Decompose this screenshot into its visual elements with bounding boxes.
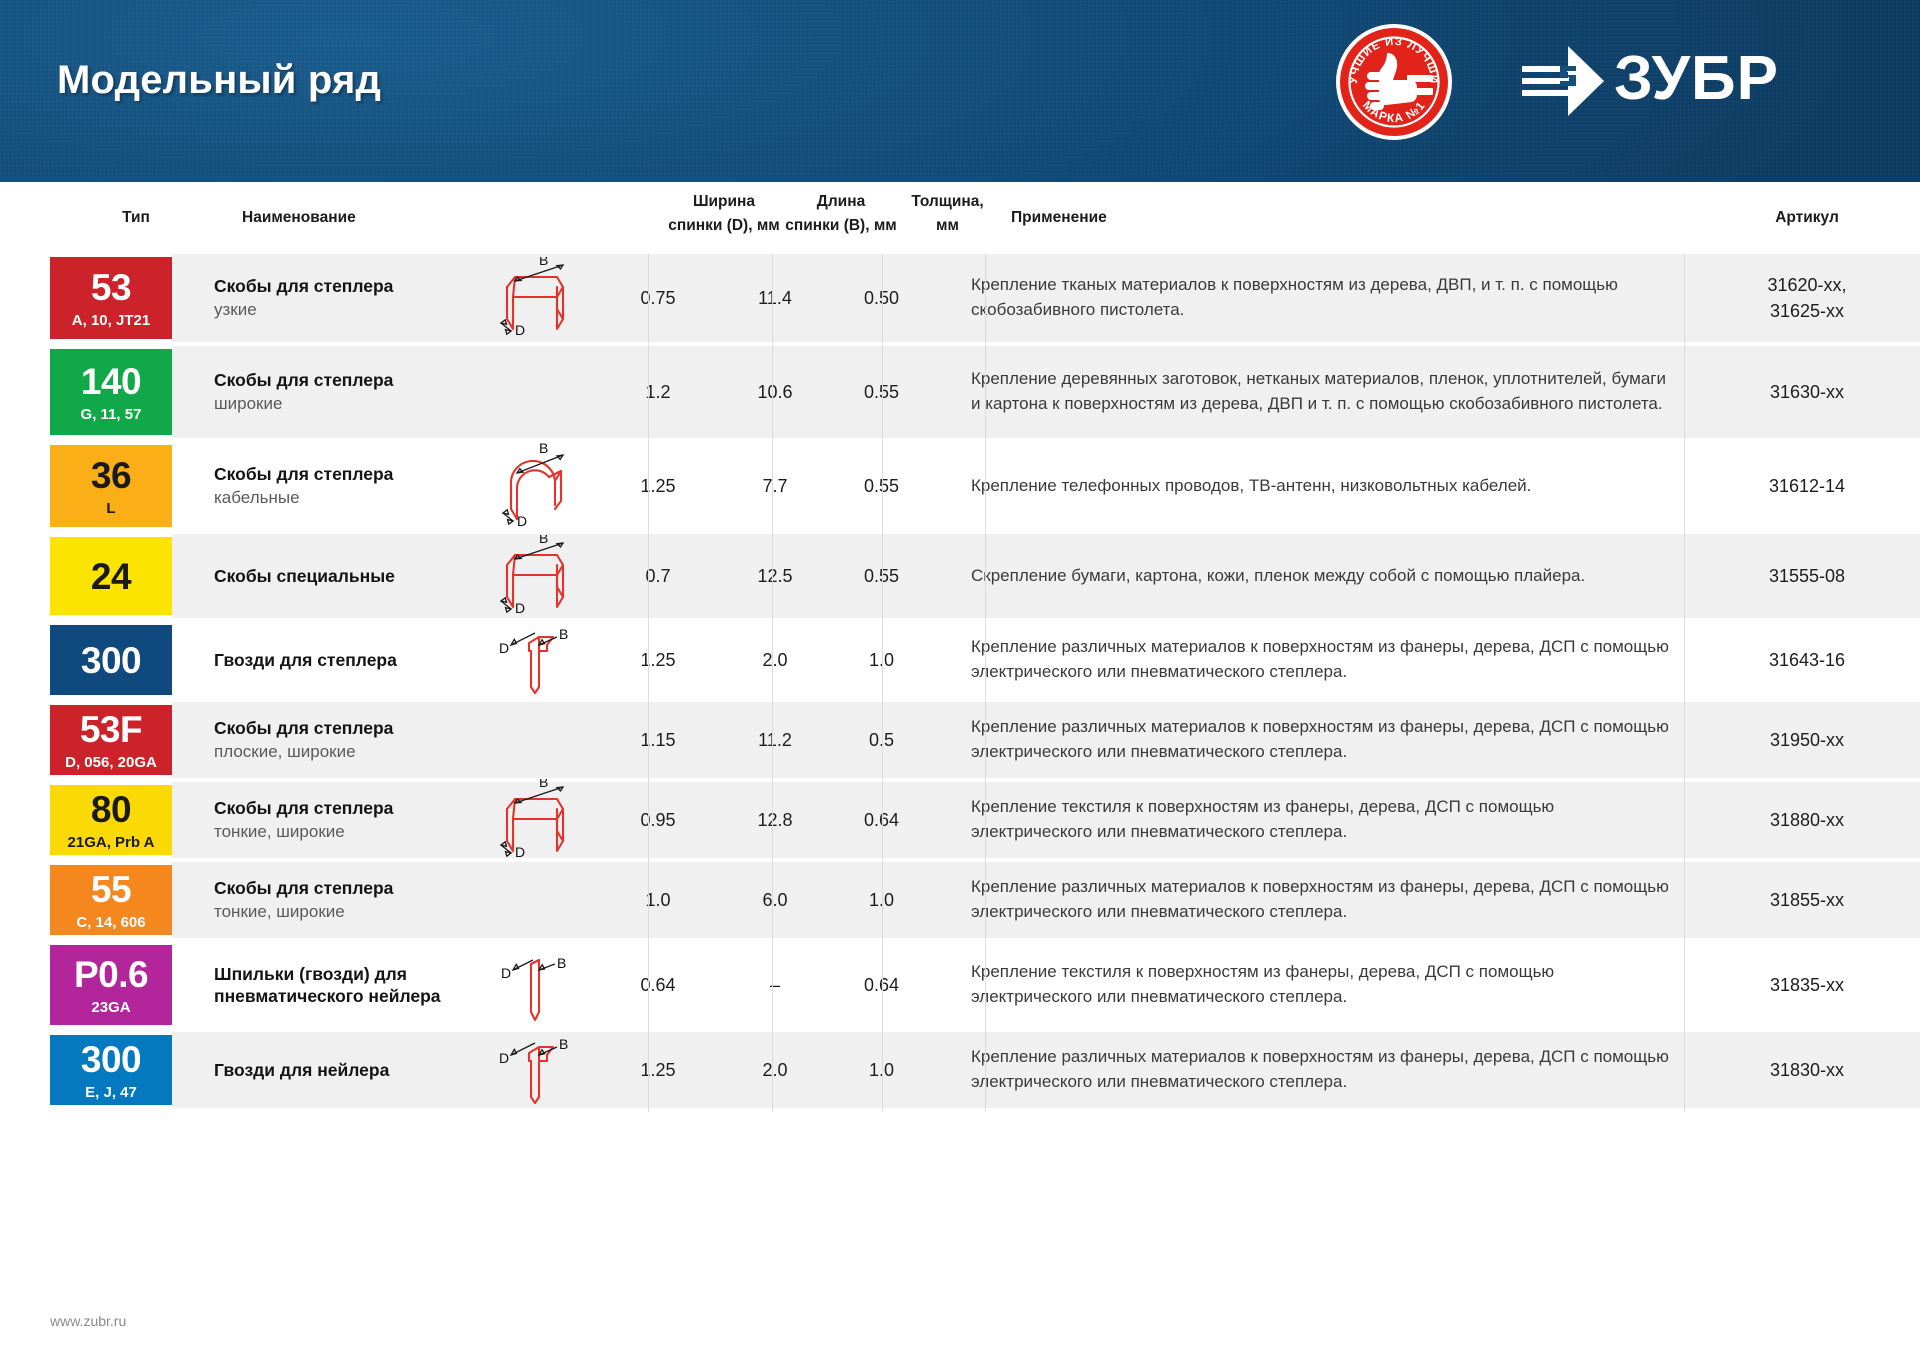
staple-diagram: D B	[468, 622, 596, 698]
table-row: 300 Гвозди для степлера D B 1.25 2.0 1.0…	[0, 622, 1920, 698]
application-text: Крепление текстиля к поверхностям из фан…	[933, 942, 1694, 1028]
application-text: Крепление различных материалов к поверхн…	[933, 622, 1694, 698]
type-cell: 300 E, J, 47	[0, 1032, 172, 1108]
type-badge: 80 21GA, Prb A	[50, 785, 172, 855]
name-cell: Гвозди для нейлера	[172, 1032, 468, 1108]
staple-diagram: B D	[468, 534, 596, 618]
staple-diagram	[468, 702, 596, 778]
name-cell: Скобы для степлера широкие	[172, 346, 468, 438]
article-value: 31880-xx	[1694, 782, 1920, 858]
type-badge-number: 53	[91, 269, 131, 306]
type-badge: 140 G, 11, 57	[50, 349, 172, 435]
type-badge-subtitle: 23GA	[91, 1000, 130, 1015]
article-value: 31620-xx,31625-xx	[1694, 254, 1920, 342]
application-text: Скрепление бумаги, картона, кожи, пленок…	[933, 534, 1694, 618]
application-text: Крепление различных материалов к поверхн…	[933, 862, 1694, 938]
table-row: 24 Скобы специальные B D 0.7 12.5 0.55 С…	[0, 534, 1920, 618]
type-badge-subtitle: G, 11, 57	[81, 407, 142, 422]
type-badge-subtitle: E, J, 47	[85, 1085, 137, 1100]
svg-text:B: B	[559, 1036, 568, 1052]
table-row: 36 L Скобы для степлера кабельные B D 1.…	[0, 442, 1920, 530]
type-badge-subtitle: C, 14, 606	[76, 915, 145, 930]
name-cell: Гвозди для степлера	[172, 622, 468, 698]
svg-text:B: B	[539, 443, 548, 456]
type-badge-number: P0.6	[74, 956, 148, 993]
type-badge-number: 80	[91, 791, 131, 828]
type-badge-subtitle: L	[106, 501, 115, 516]
staple-diagram: D B	[468, 1032, 596, 1108]
article-value: 31830-xx	[1694, 1032, 1920, 1108]
type-cell: 55 C, 14, 606	[0, 862, 172, 938]
product-name: Гвозди для степлера	[214, 649, 468, 671]
application-text: Крепление деревянных заготовок, нетканых…	[933, 346, 1694, 438]
type-cell: 24	[0, 534, 172, 618]
svg-text:B: B	[557, 955, 566, 971]
best-of-best-seal-icon: ЛУЧШИЕ ИЗ ЛУЧШИХ МАРКА №1	[1334, 22, 1454, 142]
col-header-application: Применение	[1011, 208, 1107, 229]
table-row: 140 G, 11, 57 Скобы для степлера широкие…	[0, 346, 1920, 438]
type-cell: 36 L	[0, 442, 172, 530]
zubr-logo: ЗУБР	[1520, 40, 1874, 120]
article-value: 31835-xx	[1694, 942, 1920, 1028]
length-value: 11.2	[720, 702, 830, 778]
type-cell: 300	[0, 622, 172, 698]
col-header-type: Тип	[96, 208, 176, 229]
svg-text:ЗУБР: ЗУБР	[1614, 49, 1779, 111]
svg-text:D: D	[499, 640, 509, 656]
application-text: Крепление телефонных проводов, ТВ-антенн…	[933, 442, 1694, 530]
product-name-subtitle: узкие	[214, 299, 468, 321]
article-value: 31555-08	[1694, 534, 1920, 618]
zubr-diamond-icon	[1520, 44, 1592, 116]
col-header-thickness-line2: мм	[896, 216, 999, 237]
type-badge-subtitle: 21GA, Prb A	[68, 835, 155, 850]
width-value: 1.25	[596, 1032, 720, 1108]
width-value: 0.7	[596, 534, 720, 618]
application-text: Крепление текстиля к поверхностям из фан…	[933, 782, 1694, 858]
column-divider	[985, 254, 986, 1112]
type-badge: 300 E, J, 47	[50, 1035, 172, 1105]
name-cell: Скобы для степлера плоские, широкие	[172, 702, 468, 778]
width-value: 1.25	[596, 622, 720, 698]
width-value: 0.64	[596, 942, 720, 1028]
application-text: Крепление различных материалов к поверхн…	[933, 1032, 1694, 1108]
column-divider	[648, 254, 649, 1112]
length-value: 12.8	[720, 782, 830, 858]
staple-diagram: B D	[468, 254, 596, 342]
product-name-subtitle: тонкие, широкие	[214, 821, 468, 843]
type-badge-number: 140	[81, 363, 141, 400]
type-badge-number: 36	[91, 457, 131, 494]
col-header-thickness-line1: Толщина,	[896, 192, 999, 213]
article-value: 31643-16	[1694, 622, 1920, 698]
product-name: Скобы для степлера	[214, 877, 468, 899]
svg-text:D: D	[515, 322, 525, 338]
width-value: 1.25	[596, 442, 720, 530]
width-value: 1.15	[596, 702, 720, 778]
product-name-subtitle: кабельные	[214, 487, 468, 509]
type-badge: 55 C, 14, 606	[50, 865, 172, 935]
length-value: 6.0	[720, 862, 830, 938]
svg-text:D: D	[517, 513, 527, 529]
product-name: Гвозди для нейлера	[214, 1059, 468, 1081]
staple-diagram: B D	[468, 442, 596, 530]
type-badge-number: 24	[91, 558, 131, 595]
width-value: 1.0	[596, 862, 720, 938]
type-badge: P0.6 23GA	[50, 945, 172, 1025]
type-badge-number: 300	[81, 1041, 141, 1078]
product-name: Скобы для степлера	[214, 275, 468, 297]
length-value: 2.0	[720, 622, 830, 698]
application-text: Крепление различных материалов к поверхн…	[933, 702, 1694, 778]
product-name: Скобы для степлера	[214, 797, 468, 819]
col-header-length-line2: спинки (B), мм	[778, 216, 904, 237]
type-badge: 24	[50, 537, 172, 615]
name-cell: Скобы для степлера тонкие, широкие	[172, 862, 468, 938]
width-value: 0.95	[596, 782, 720, 858]
length-value: 12.5	[720, 534, 830, 618]
type-cell: 140 G, 11, 57	[0, 346, 172, 438]
svg-text:D: D	[515, 844, 525, 860]
width-value: 0.75	[596, 254, 720, 342]
application-text: Крепление тканых материалов к поверхност…	[933, 254, 1694, 342]
svg-text:B: B	[539, 535, 548, 546]
table-row: 80 21GA, Prb A Скобы для степлера тонкие…	[0, 782, 1920, 858]
svg-text:B: B	[539, 257, 548, 268]
table-header: Тип Наименование Ширина спинки (D), мм Д…	[0, 182, 1920, 254]
type-badge: 53F D, 056, 20GA	[50, 705, 172, 775]
width-value: 1.2	[596, 346, 720, 438]
type-badge-number: 53F	[80, 711, 142, 748]
col-header-length-line1: Длина	[786, 192, 896, 213]
article-value: 31630-xx	[1694, 346, 1920, 438]
type-badge-number: 300	[81, 642, 141, 679]
name-cell: Скобы для степлера узкие	[172, 254, 468, 342]
staple-diagram	[468, 346, 596, 438]
type-badge: 53 A, 10, JT21	[50, 257, 172, 339]
article-value: 31855-xx	[1694, 862, 1920, 938]
length-value: 2.0	[720, 1032, 830, 1108]
col-header-article: Артикул	[1694, 208, 1920, 229]
table-row: 53F D, 056, 20GA Скобы для степлера плос…	[0, 702, 1920, 778]
name-cell: Шпильки (гвозди) для пневматического ней…	[172, 942, 468, 1028]
type-cell: 53F D, 056, 20GA	[0, 702, 172, 778]
catalog-page: Модельный ряд ЛУЧШИЕ ИЗ ЛУЧШИХ МАРКА №1	[0, 0, 1920, 1357]
name-cell: Скобы для степлера кабельные	[172, 442, 468, 530]
svg-text:D: D	[499, 1050, 509, 1066]
column-divider	[772, 254, 773, 1112]
svg-text:B: B	[559, 626, 568, 642]
type-badge-number: 55	[91, 871, 131, 908]
table-row: 53 A, 10, JT21 Скобы для степлера узкие …	[0, 254, 1920, 342]
table-row: 300 E, J, 47 Гвозди для нейлера D B 1.25…	[0, 1032, 1920, 1108]
product-name-subtitle: плоские, широкие	[214, 741, 468, 763]
name-cell: Скобы для степлера тонкие, широкие	[172, 782, 468, 858]
product-name: Скобы для степлера	[214, 717, 468, 739]
length-value: 10.6	[720, 346, 830, 438]
models-table: Тип Наименование Ширина спинки (D), мм Д…	[0, 182, 1920, 1112]
product-name: Скобы специальные	[214, 565, 468, 587]
product-name: Скобы для степлера	[214, 463, 468, 485]
product-name-subtitle: широкие	[214, 393, 468, 415]
product-name-subtitle: тонкие, широкие	[214, 901, 468, 923]
page-title: Модельный ряд	[57, 58, 381, 103]
length-value: –	[720, 942, 830, 1028]
product-name: Шпильки (гвозди) для пневматического ней…	[214, 963, 468, 1008]
col-header-width-line2: спинки (D), мм	[654, 216, 794, 237]
staple-diagram	[468, 862, 596, 938]
table-body: 53 A, 10, JT21 Скобы для степлера узкие …	[0, 254, 1920, 1112]
length-value: 7.7	[720, 442, 830, 530]
length-value: 11.4	[720, 254, 830, 342]
staple-diagram: D B	[468, 942, 596, 1028]
table-row: P0.6 23GA Шпильки (гвозди) для пневматич…	[0, 942, 1920, 1028]
product-name: Скобы для степлера	[214, 369, 468, 391]
type-badge: 300	[50, 625, 172, 695]
staple-diagram: B D	[468, 782, 596, 858]
type-cell: P0.6 23GA	[0, 942, 172, 1028]
column-divider	[1684, 254, 1685, 1112]
type-badge-subtitle: A, 10, JT21	[72, 313, 150, 328]
footer-url: www.zubr.ru	[50, 1313, 126, 1329]
svg-text:D: D	[515, 600, 525, 616]
svg-text:D: D	[501, 965, 511, 981]
column-divider	[882, 254, 883, 1112]
name-cell: Скобы специальные	[172, 534, 468, 618]
article-value: 31612-14	[1694, 442, 1920, 530]
col-header-name: Наименование	[242, 208, 356, 229]
page-header: Модельный ряд ЛУЧШИЕ ИЗ ЛУЧШИХ МАРКА №1	[0, 0, 1920, 182]
row-separator	[0, 1108, 1920, 1112]
type-cell: 80 21GA, Prb A	[0, 782, 172, 858]
table-row: 55 C, 14, 606 Скобы для степлера тонкие,…	[0, 862, 1920, 938]
article-value: 31950-xx	[1694, 702, 1920, 778]
type-cell: 53 A, 10, JT21	[0, 254, 172, 342]
svg-text:B: B	[539, 779, 548, 790]
type-badge: 36 L	[50, 445, 172, 527]
type-badge-subtitle: D, 056, 20GA	[65, 755, 157, 770]
col-header-width-line1: Ширина	[662, 192, 786, 213]
zubr-wordmark: ЗУБР	[1614, 49, 1874, 111]
